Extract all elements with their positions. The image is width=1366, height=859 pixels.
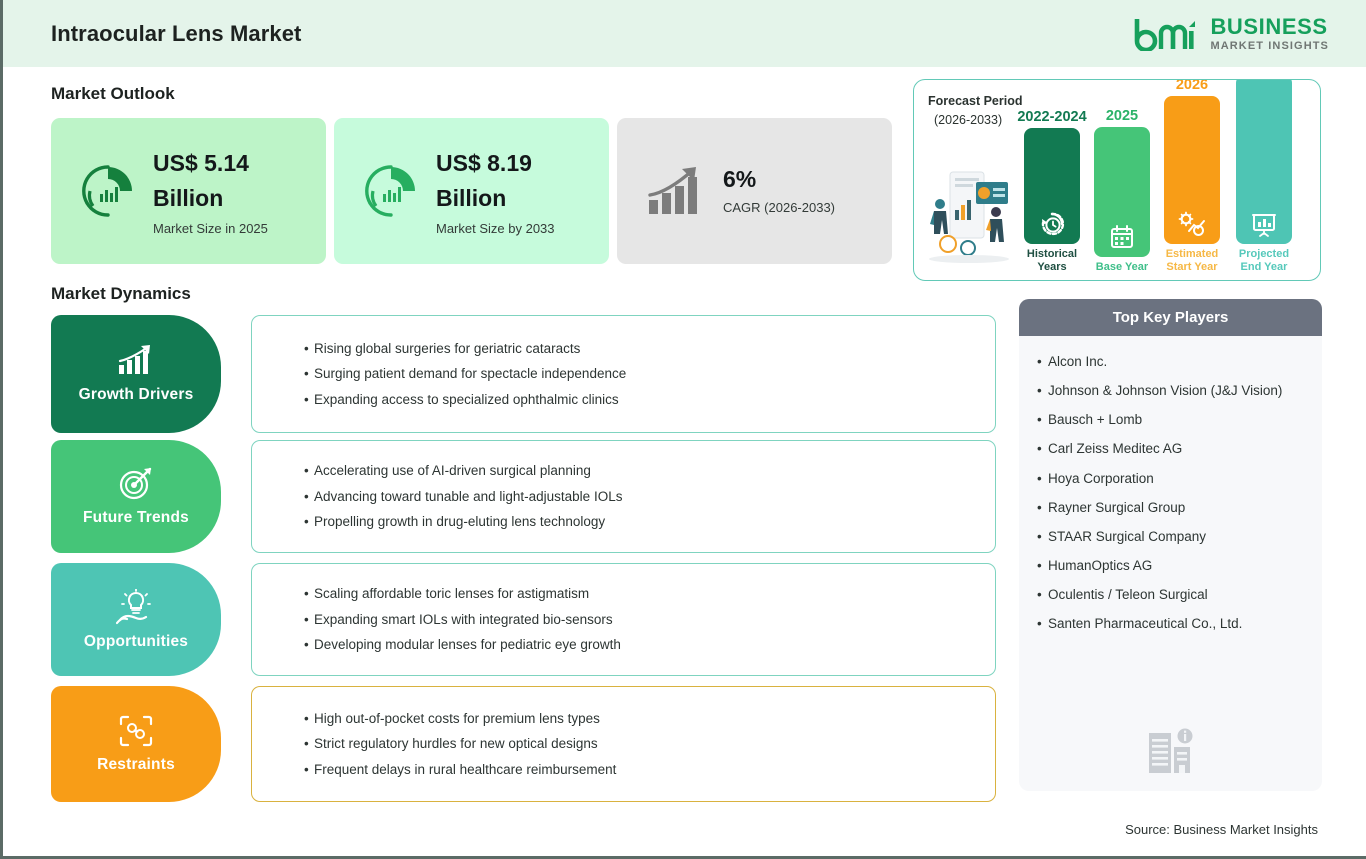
page-header: Intraocular Lens Market BUSINESS MARKET …	[3, 0, 1366, 67]
dynamics-tab-restraints[interactable]: Restraints	[51, 686, 221, 802]
forecast-bar-group: 2022-2024 Historical Years 2025	[1020, 80, 1320, 281]
players-panel-title: Top Key Players	[1019, 299, 1322, 336]
list-item: Alcon Inc.	[1037, 352, 1304, 371]
bullet-item: Developing modular lenses for pediatric …	[304, 636, 995, 654]
list-item: STAAR Surgical Company	[1037, 527, 1304, 546]
forecast-period-chart: Forecast Period (2026-2033)	[913, 79, 1321, 281]
dynamics-tab-label: Growth Drivers	[79, 386, 194, 404]
bullet-item: High out-of-pocket costs for premium len…	[304, 710, 995, 728]
dynamics-tab-label: Restraints	[97, 756, 175, 774]
outlook-card-value-1: US$ 5.14	[153, 146, 268, 181]
outlook-card-value-2: Billion	[153, 181, 268, 216]
dynamics-bullets-box: High out-of-pocket costs for premium len…	[251, 686, 996, 802]
outlook-card-value-1: 6%	[723, 167, 835, 192]
dynamics-row-future-trends: Accelerating use of AI-driven surgical p…	[51, 440, 996, 553]
dynamics-tab-label: Opportunities	[84, 633, 188, 651]
list-item: Bausch + Lomb	[1037, 410, 1304, 429]
forecast-bar-year: 2025	[1106, 108, 1138, 124]
market-dynamics-title: Market Dynamics	[51, 284, 191, 304]
dynamics-tab-label: Future Trends	[83, 509, 189, 527]
list-item: Oculentis / Teleon Surgical	[1037, 585, 1304, 604]
outlook-card-market-size-2033: US$ 8.19 Billion Market Size by 2033	[334, 118, 609, 264]
dynamics-tab-growth-drivers[interactable]: Growth Drivers	[51, 315, 221, 433]
target-arrow-icon	[117, 467, 155, 501]
lightbulb-hand-icon	[116, 589, 156, 625]
list-item: Carl Zeiss Meditec AG	[1037, 439, 1304, 458]
bullet-item: Strict regulatory hurdles for new optica…	[304, 735, 995, 753]
bullet-item: Scaling affordable toric lenses for asti…	[304, 585, 995, 603]
bmi-logo-icon	[1133, 17, 1201, 51]
bullet-item: Advancing toward tunable and light-adjus…	[304, 488, 995, 506]
dynamics-tab-opportunities[interactable]: Opportunities	[51, 563, 221, 676]
market-outlook-title: Market Outlook	[51, 84, 175, 104]
list-item: Hoya Corporation	[1037, 469, 1304, 488]
dynamics-row-growth-drivers: Rising global surgeries for geriatric ca…	[51, 315, 996, 433]
presentation-chart-icon	[1251, 211, 1277, 237]
page-title: Intraocular Lens Market	[51, 21, 302, 47]
team-analytics-illustration	[920, 162, 1018, 267]
forecast-bar-caption: Historical Years	[1024, 248, 1080, 274]
forecast-bar-caption: Projected End Year	[1236, 248, 1292, 274]
forecast-bar-year: 2022-2024	[1017, 109, 1086, 125]
dynamics-bullets-box: Scaling affordable toric lenses for asti…	[251, 563, 996, 676]
source-note: Source: Business Market Insights	[1125, 822, 1318, 837]
infographic-page: Intraocular Lens Market BUSINESS MARKET …	[0, 0, 1366, 859]
forecast-bar-historical-years: 2022-2024 Historical Years	[1024, 109, 1080, 274]
forecast-bar-projected-end-year: 2033 Projected End Year	[1236, 79, 1292, 274]
forecast-bar-rect	[1094, 127, 1150, 257]
market-outlook-cards: US$ 5.14 Billion Market Size in 2025 US$…	[51, 118, 892, 264]
dynamics-row-restraints: High out-of-pocket costs for premium len…	[51, 686, 996, 802]
logo-wordmark: BUSINESS MARKET INSIGHTS	[1210, 16, 1329, 52]
logo-line-2: MARKET INSIGHTS	[1210, 41, 1329, 52]
forecast-title: Forecast Period	[928, 94, 1022, 108]
company-building-info-icon	[1145, 727, 1197, 775]
dynamics-bullets-box: Rising global surgeries for geriatric ca…	[251, 315, 996, 433]
outlook-card-value-1: US$ 8.19	[436, 146, 555, 181]
bullet-item: Propelling growth in drug-eluting lens t…	[304, 513, 995, 531]
list-item: Rayner Surgical Group	[1037, 498, 1304, 517]
forecast-bar-year: 2026	[1176, 79, 1208, 93]
outlook-card-cagr: 6% CAGR (2026-2033)	[617, 118, 892, 264]
forecast-subtitle: (2026-2033)	[934, 113, 1002, 127]
brand-logo: BUSINESS MARKET INSIGHTS	[1133, 16, 1329, 52]
forecast-bar-rect	[1164, 96, 1220, 244]
outlook-card-label: Market Size by 2033	[436, 221, 555, 236]
list-item: Santen Pharmaceutical Co., Ltd.	[1037, 614, 1304, 633]
bullet-item: Surging patient demand for spectacle ind…	[304, 365, 995, 383]
history-clock-icon	[1039, 211, 1065, 237]
forecast-bar-base-year: 2025 Base Year	[1094, 108, 1150, 274]
bullet-list: Accelerating use of AI-driven surgical p…	[304, 454, 995, 539]
growth-bar-arrow-icon	[116, 344, 156, 378]
donut-chart-icon	[79, 162, 137, 220]
dynamics-bullets-box: Accelerating use of AI-driven surgical p…	[251, 440, 996, 553]
bullet-item: Frequent delays in rural healthcare reim…	[304, 761, 995, 779]
bullet-item: Accelerating use of AI-driven surgical p…	[304, 462, 995, 480]
dynamics-tab-future-trends[interactable]: Future Trends	[51, 440, 221, 553]
bullet-item: Rising global surgeries for geriatric ca…	[304, 340, 995, 358]
outlook-card-market-size-2025: US$ 5.14 Billion Market Size in 2025	[51, 118, 326, 264]
donut-chart-icon	[362, 162, 420, 220]
list-item: HumanOptics AG	[1037, 556, 1304, 575]
list-item: Johnson & Johnson Vision (J&J Vision)	[1037, 381, 1304, 400]
outlook-card-label: Market Size in 2025	[153, 221, 268, 236]
calendar-icon	[1109, 224, 1135, 250]
bullet-list: Scaling affordable toric lenses for asti…	[304, 577, 995, 662]
top-key-players-panel: Top Key Players Alcon Inc. Johnson & Joh…	[1019, 299, 1322, 791]
forecast-bar-caption: Base Year	[1096, 261, 1148, 274]
bullet-list: Rising global surgeries for geriatric ca…	[304, 332, 995, 417]
bullet-item: Expanding smart IOLs with integrated bio…	[304, 611, 995, 629]
restraint-scan-icon	[118, 714, 154, 748]
forecast-bar-caption: Estimated Start Year	[1164, 248, 1220, 274]
forecast-bar-rect	[1024, 128, 1080, 244]
growth-arrow-icon	[645, 164, 707, 218]
forecast-bar-estimated-start-year: 2026 Estimated Start Year	[1164, 79, 1220, 274]
bullet-list: High out-of-pocket costs for premium len…	[304, 702, 995, 787]
logo-line-1: BUSINESS	[1210, 16, 1329, 38]
gear-chart-icon	[1178, 211, 1206, 237]
bullet-item: Expanding access to specialized ophthalm…	[304, 391, 995, 409]
forecast-bar-rect	[1236, 79, 1292, 244]
dynamics-row-opportunities: Scaling affordable toric lenses for asti…	[51, 563, 996, 676]
outlook-card-value-2: Billion	[436, 181, 555, 216]
outlook-card-label: CAGR (2026-2033)	[723, 200, 835, 215]
players-list: Alcon Inc. Johnson & Johnson Vision (J&J…	[1019, 336, 1322, 634]
